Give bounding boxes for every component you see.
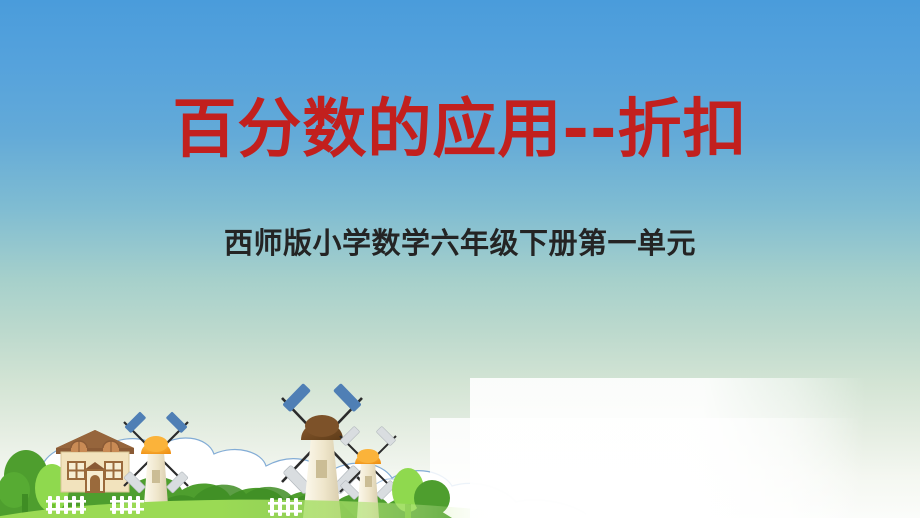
slide-title-text: 百分数的应用--折扣 [172,92,747,168]
house-attic-window-left [71,441,87,452]
house-window-left [68,462,85,479]
windmill-center-window [316,460,327,478]
page-title: 百分数的应用--折扣 [0,92,920,168]
windmill-left-window [152,470,160,483]
presentation-slide: 百分数的应用--折扣 西师版小学数学六年级下册第一单元 [0,0,920,518]
windmill-right-window [365,476,372,487]
house-window-right [105,462,122,479]
countryside-illustration [0,378,920,518]
slide-subtitle: 西师版小学数学六年级下册第一单元 [0,224,920,262]
slide-subtitle-text: 西师版小学数学六年级下册第一单元 [224,224,696,262]
house-attic-window-right [103,441,119,452]
fence-segment-1 [46,496,86,514]
